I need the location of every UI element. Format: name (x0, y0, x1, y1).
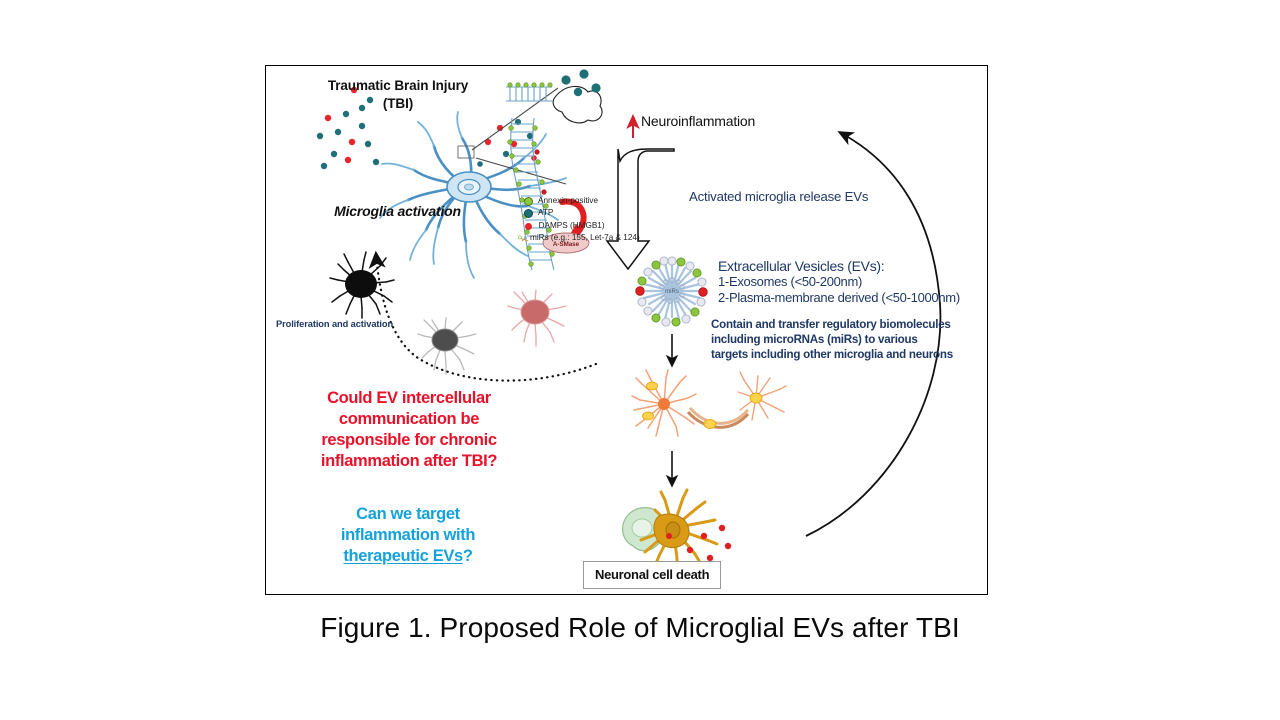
microglia-activation-label: Microglia activation (295, 203, 500, 219)
legend-label-mirs: miRs (e.g.: 155, Let-7a & 124) (530, 232, 640, 244)
microglia-pink (508, 290, 566, 346)
damps-swatch-icon (525, 223, 532, 230)
question-blue-line2: inflammation with (341, 526, 475, 544)
figure-frame: A-SMase (265, 65, 988, 595)
ev-item-plasma-membrane: 2-Plasma-membrane derived (<50-1000nm) (718, 290, 960, 305)
ev-desc-line1: Contain and transfer regulatory biomolec… (711, 317, 953, 332)
mirs-swatch-icon (518, 235, 529, 243)
ev-title: Extracellular Vesicles (EVs): (718, 258, 960, 274)
question-blue-line1: Can we target (356, 505, 460, 523)
question-blue-tail: ? (463, 547, 473, 565)
ev-item-exosomes: 1-Exosomes (<50-200nm) (718, 274, 960, 289)
dotted-feedback-arrow (376, 254, 596, 381)
legend-item-damps: DAMPS (HMGB1) (524, 220, 640, 232)
damps-atp-dots-top (477, 119, 537, 167)
mirs-vesicle-label: miRs (665, 289, 679, 295)
therapeutic-evs-link[interactable]: therapeutic EVs (343, 547, 462, 565)
tbi-title-line2: (TBI) (383, 96, 413, 111)
atp-swatch-icon (524, 209, 533, 218)
annexin-swatch-icon (524, 197, 533, 206)
page-title: Traumatic Brain Injury (TBI) (283, 77, 513, 113)
legend-item-atp: ATP (524, 207, 640, 219)
question-red-line3: responsible for chronic (321, 431, 496, 449)
legend-label-annexin: Annexin-positive (538, 195, 598, 207)
activated-microglia-black (330, 252, 394, 318)
question-red-line4: inflammation after TBI? (321, 452, 497, 470)
figure-caption: Figure 1. Proposed Role of Microglial EV… (0, 612, 1280, 644)
legend-item-mirs: miRs (e.g.: 155, Let-7a & 124) (518, 232, 640, 244)
research-question-blue: Can we target inflammation with therapeu… (292, 504, 524, 567)
neuroinflammation-label: Neuroinflammation (641, 113, 755, 129)
proliferation-activation-label: Proliferation and activation (276, 319, 393, 329)
ev-desc-line2: including microRNAs (miRs) to various (711, 332, 953, 347)
ev-vesicle-radial: miRs (636, 257, 708, 326)
legend-label-damps: DAMPS (HMGB1) (539, 220, 605, 232)
research-question-red: Could EV intercellular communication be … (284, 388, 534, 472)
ev-desc-line3: targets including other microglia and ne… (711, 347, 953, 362)
legend: Annexin-positive ATP DAMPS (HMGB1) miRs … (524, 195, 640, 245)
legend-item-annexin: Annexin-positive (524, 195, 640, 207)
activated-microglia-release-label: Activated microglia release EVs (689, 189, 868, 204)
astrocyte-orange-cells (632, 370, 786, 436)
ev-title-block: Extracellular Vesicles (EVs): 1-Exosomes… (718, 258, 960, 305)
neuronal-cell-death-box: Neuronal cell death (583, 561, 721, 589)
microglia-gray (418, 318, 476, 374)
question-red-line1: Could EV intercellular (327, 389, 491, 407)
ev-description-block: Contain and transfer regulatory biomolec… (711, 317, 953, 362)
tbi-title-line1: Traumatic Brain Injury (328, 78, 468, 93)
dying-neuron-gold (623, 490, 717, 568)
figure-page: A-SMase (0, 0, 1280, 720)
legend-label-atp: ATP (538, 207, 553, 219)
question-red-line2: communication be (339, 410, 479, 428)
